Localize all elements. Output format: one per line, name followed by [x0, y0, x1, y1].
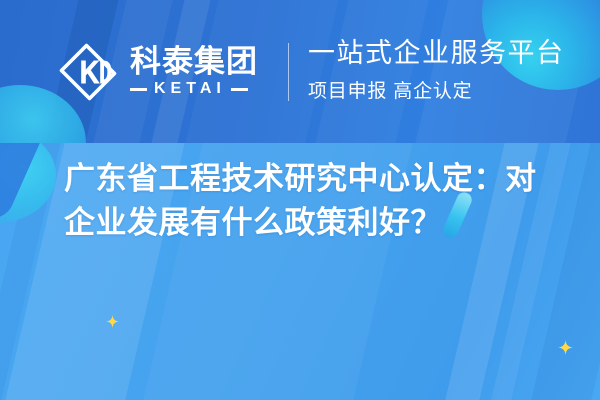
- logo-wordmark: 科泰集团 KETAI: [130, 46, 258, 99]
- banner-header: 科泰集团 KETAI 一站式企业服务平台 项目申报 高企认定: [0, 0, 600, 143]
- headline: 广东省工程技术研究中心认定：对 企业发展有什么政策利好？: [64, 157, 564, 245]
- sparkle-star-icon: [558, 340, 573, 355]
- logo-company-name-en: KETAI: [154, 80, 226, 98]
- logo-dash-left-icon: [130, 88, 147, 91]
- promo-banner: 科泰集团 KETAI 一站式企业服务平台 项目申报 高企认定 广东省工程技术研究: [0, 0, 600, 400]
- sparkle-star-icon: [106, 315, 119, 328]
- ketai-diamond-kd-logo-icon: [56, 40, 120, 104]
- logo-company-name-cn: 科泰集团: [130, 46, 258, 78]
- vertical-divider-icon: [288, 43, 289, 101]
- logo-company-name-en-row: KETAI: [130, 80, 258, 98]
- header-slogan-block: 一站式企业服务平台 项目申报 高企认定: [308, 38, 565, 103]
- headline-line-2: 企业发展有什么政策利好？: [64, 201, 564, 245]
- company-logo[interactable]: 科泰集团 KETAI: [56, 36, 258, 108]
- headline-line-1: 广东省工程技术研究中心认定：对: [64, 157, 564, 201]
- logo-dash-right-icon: [231, 88, 248, 91]
- header-slogan-main: 一站式企业服务平台: [308, 38, 565, 70]
- header-slogan-sub: 项目申报 高企认定: [308, 76, 565, 103]
- banner-body: 广东省工程技术研究中心认定：对 企业发展有什么政策利好？: [0, 143, 600, 400]
